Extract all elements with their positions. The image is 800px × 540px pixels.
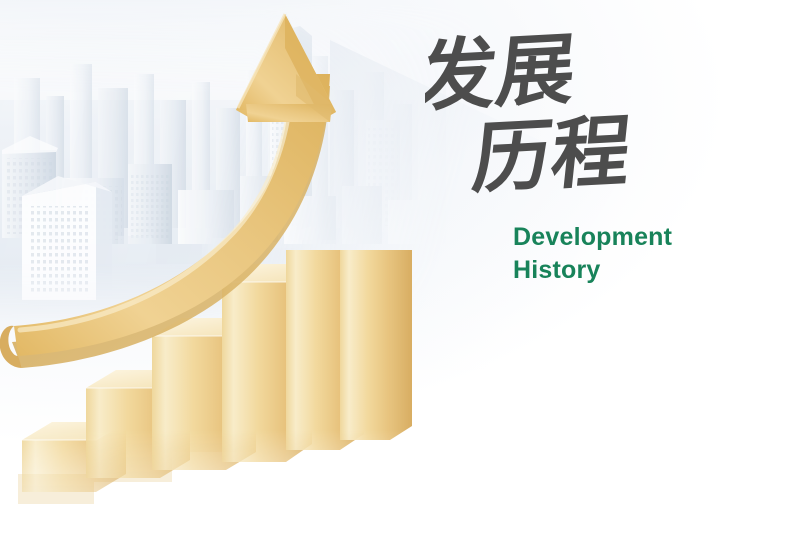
calligraphy-line-2: 历程 xyxy=(469,108,635,203)
title-block: 发展 历程 Development History xyxy=(425,18,725,283)
bar-1 xyxy=(22,422,126,492)
bar-3 xyxy=(152,318,256,470)
development-history-banner: 发展 历程 Development History xyxy=(0,0,800,540)
cityscape-photo xyxy=(0,0,470,330)
bar-2 xyxy=(86,370,190,478)
chinese-calligraphy-title: 发展 历程 xyxy=(425,18,725,218)
bar-5 xyxy=(286,206,364,450)
growth-arrow xyxy=(0,14,336,368)
bar-4 xyxy=(222,264,312,462)
bar-6 xyxy=(340,144,412,440)
english-title: Development History xyxy=(513,221,672,287)
calligraphy-line-1: 发展 xyxy=(425,26,580,121)
globe-graphic xyxy=(0,245,800,540)
